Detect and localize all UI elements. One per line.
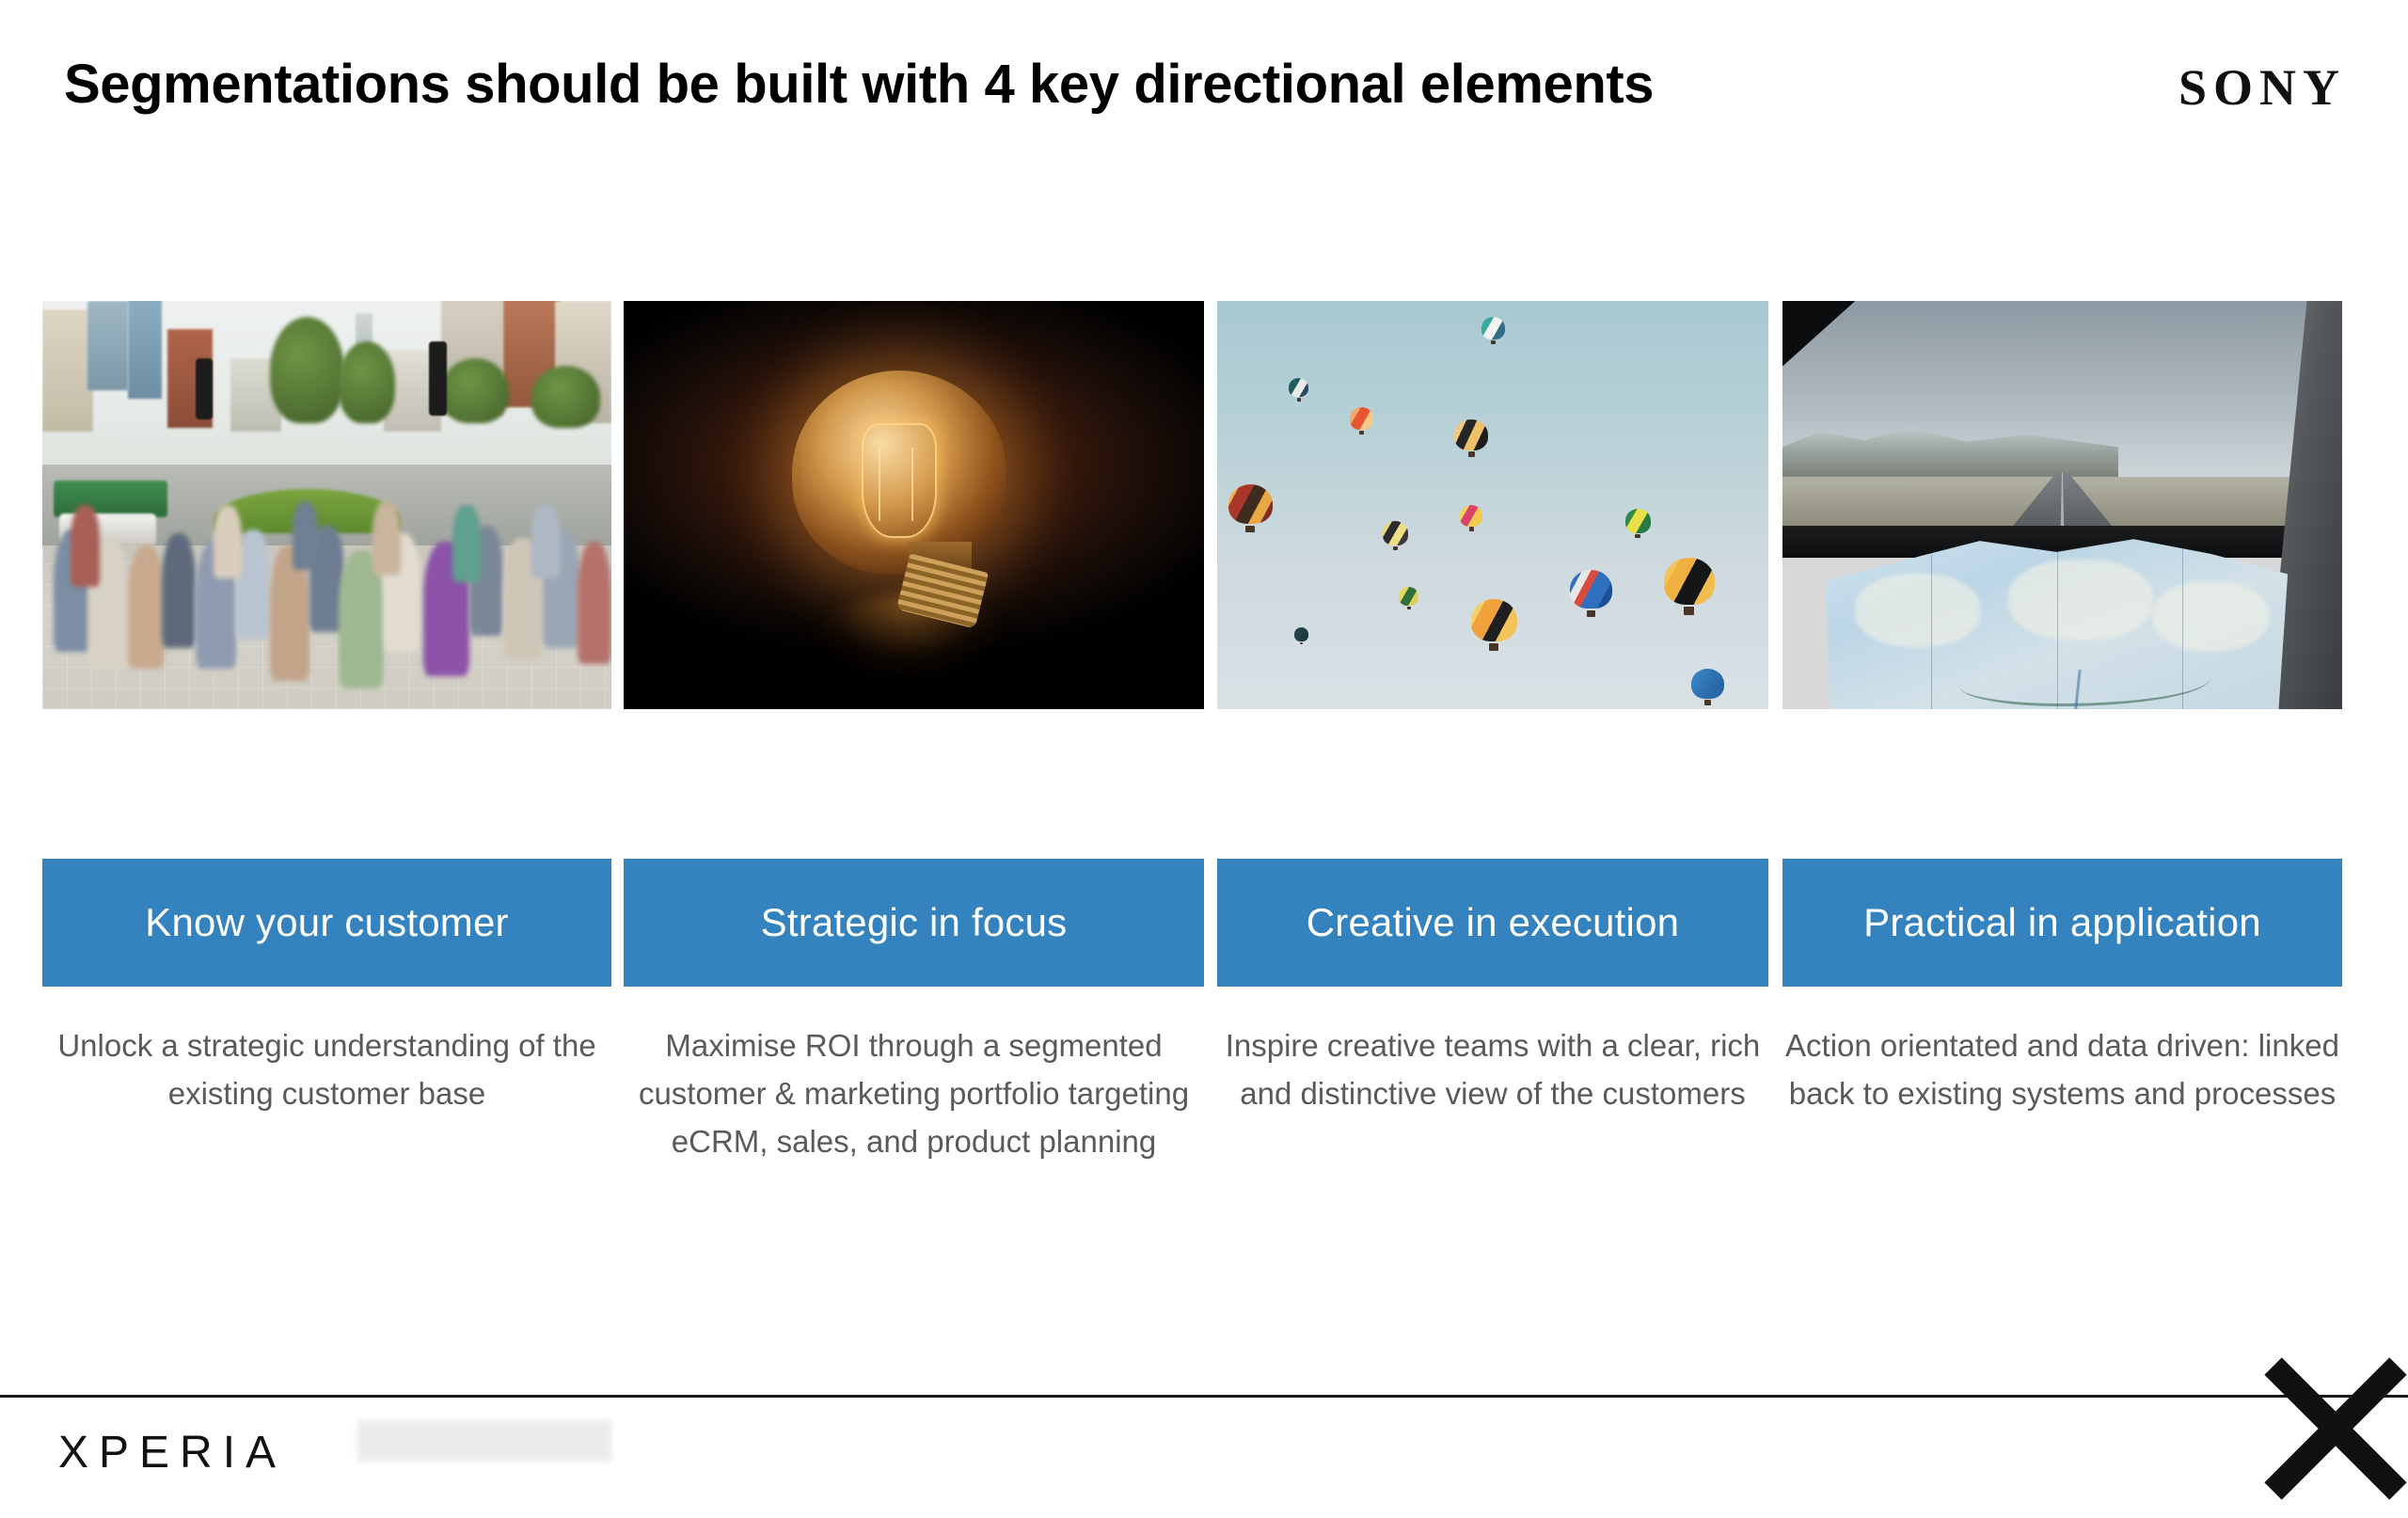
balloon-shape xyxy=(1294,627,1308,641)
category-bar-label: Practical in application xyxy=(1863,900,2261,945)
category-bar-label: Strategic in focus xyxy=(761,900,1068,945)
balloon-shape xyxy=(1289,378,1308,397)
page-title: Segmentations should be built with 4 key… xyxy=(64,53,1654,116)
balloon-shape xyxy=(1399,587,1418,606)
category-bar-know-your-customer[interactable]: Know your customer xyxy=(42,859,611,987)
balloon-shape xyxy=(1481,317,1505,339)
balloon-shape xyxy=(1228,484,1273,524)
hot-air-balloons-photo xyxy=(1217,301,1768,709)
crowded-city-street-photo xyxy=(42,301,611,709)
balloon-shape xyxy=(1460,505,1483,527)
xperia-x-icon xyxy=(2246,1339,2408,1518)
category-description: Inspire creative teams with a clear, ric… xyxy=(1217,1021,1768,1117)
road-trip-map-photo xyxy=(1782,301,2342,709)
redacted-block xyxy=(357,1420,611,1462)
balloon-shape xyxy=(1625,509,1651,532)
balloon-shape xyxy=(1454,419,1488,451)
sony-logo: SONY xyxy=(2178,58,2346,117)
footer-divider xyxy=(0,1395,2408,1398)
category-bar-label: Creative in execution xyxy=(1307,900,1679,945)
category-bar-label: Know your customer xyxy=(145,900,508,945)
category-bar-strategic-in-focus[interactable]: Strategic in focus xyxy=(624,859,1204,987)
balloon-shape xyxy=(1664,558,1715,604)
category-bar-creative-in-execution[interactable]: Creative in execution xyxy=(1217,859,1768,987)
category-description: Maximise ROI through a segmented custome… xyxy=(624,1021,1204,1165)
balloon-shape xyxy=(1691,669,1724,699)
category-bar-practical-in-application[interactable]: Practical in application xyxy=(1782,859,2342,987)
xperia-wordmark: XPERIA xyxy=(58,1427,286,1478)
balloon-shape xyxy=(1383,521,1408,545)
category-description: Unlock a strategic understanding of the … xyxy=(42,1021,611,1117)
balloon-shape xyxy=(1570,570,1612,609)
category-description: Action orientated and data driven: linke… xyxy=(1782,1021,2342,1117)
glowing-light-bulb-photo xyxy=(624,301,1204,709)
balloon-shape xyxy=(1471,599,1517,641)
balloon-shape xyxy=(1350,407,1374,430)
